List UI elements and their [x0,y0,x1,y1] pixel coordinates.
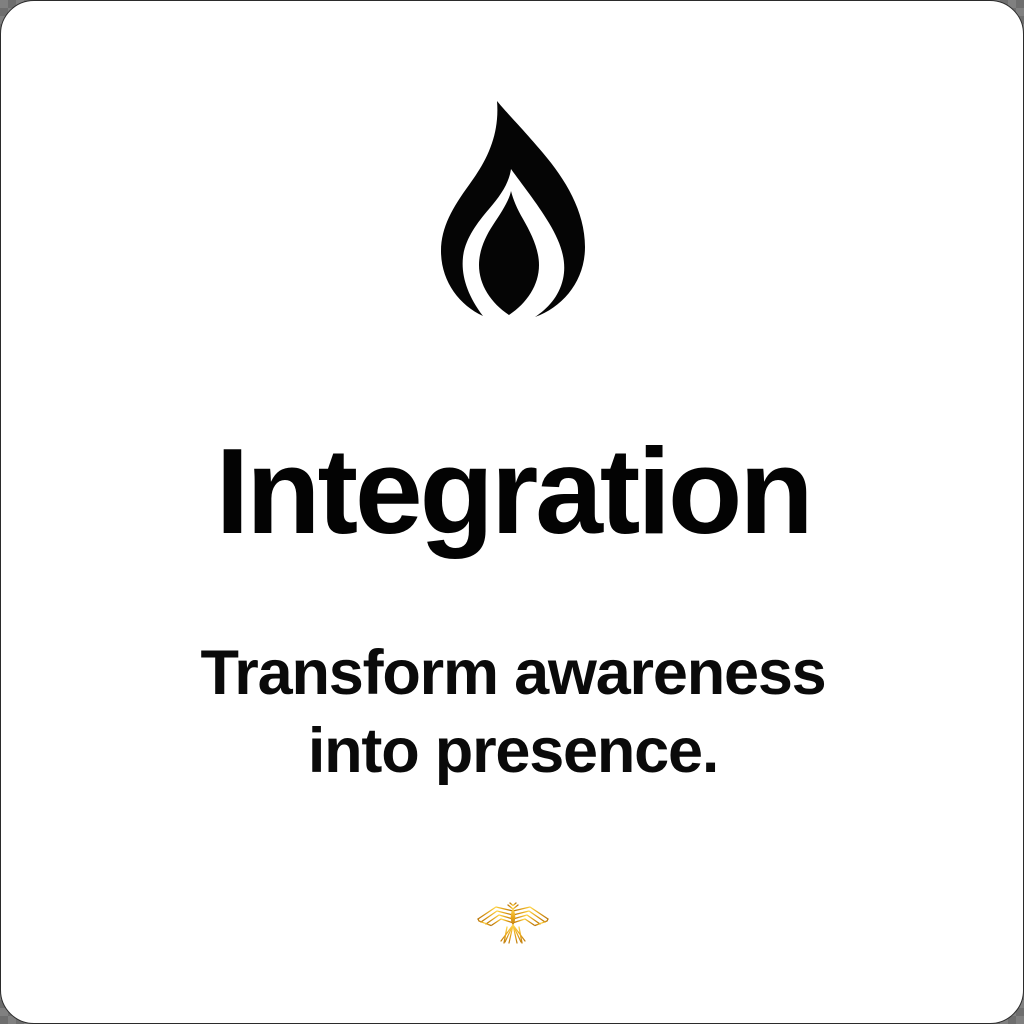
thunderbird-icon [1,894,1024,946]
flame-icon [1,99,1024,325]
subtitle: Transform awareness into presence. [1,634,1024,790]
subtitle-line-2: into presence. [1,712,1024,790]
page-title: Integration [1,428,1024,554]
subtitle-line-1: Transform awareness [1,634,1024,712]
card-surface: Integration Transform awareness into pre… [0,0,1024,1024]
